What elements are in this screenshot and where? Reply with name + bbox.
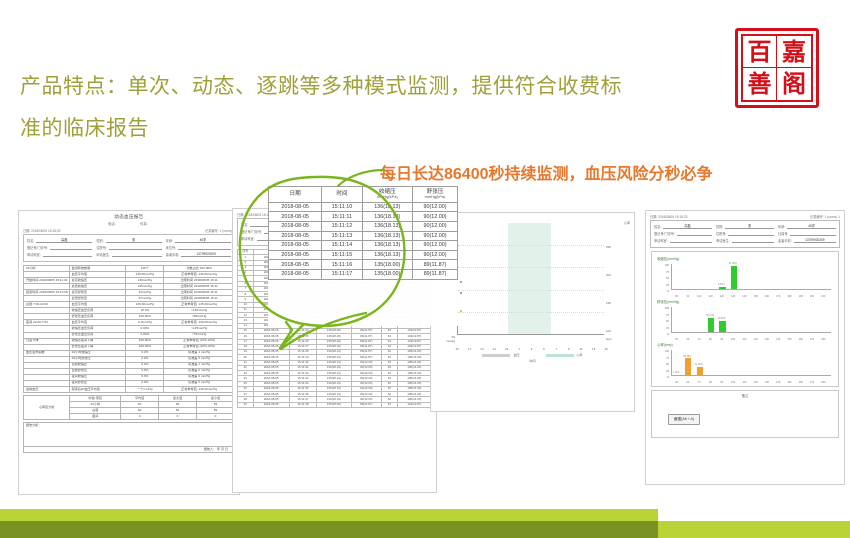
patient-field[interactable]: 住院号: (96, 245, 161, 250)
magnified-table-cell: 90(12.00) (413, 231, 458, 241)
chart-x-tick: 17 (468, 347, 471, 351)
table-cell: 29 (238, 402, 254, 407)
chart-gridline (458, 245, 604, 246)
magnified-table-cell: 136(18.13) (362, 250, 413, 260)
histogram-x-tick: 120 (754, 381, 758, 384)
histogram-y-tick: 100 (657, 350, 669, 353)
patient-field-row: 姓名:高磊性别:男年龄:46岁 (654, 223, 836, 229)
histogram-x-tick: 150 (787, 338, 791, 341)
histogram-x-tick: 190 (799, 295, 803, 298)
histogram-plot-area: 55.17%44.83% (671, 307, 831, 333)
magnified-table-row: 2018-08-0515:11:10136(18.13)90(12.00) (269, 202, 458, 212)
chart-legend-item: 心率 (546, 353, 583, 357)
table-cell: 夜间 (70, 414, 121, 420)
chart-y-right-tick: 250 (604, 245, 630, 249)
chart-gridline (458, 312, 604, 313)
magnified-table-cell: 135(18.00) (362, 269, 413, 279)
chart-x-tick: 21 (493, 347, 496, 351)
report-right-date: 日期: 2018/08/05 15:18:23 (650, 214, 687, 219)
report-left-fax-label: 传真： (140, 221, 150, 226)
histogram-y-tick: 75 (657, 314, 669, 317)
magnified-table-cell: 90(12.00) (413, 202, 458, 212)
magnified-measurement-table: 日期时间收缩压mmHg(kPa)舒张压mmHg(kPa) 2018-08-051… (268, 186, 458, 326)
patient-field[interactable]: 申请科室: (27, 252, 92, 257)
chart-x-tick: 23 (505, 347, 508, 351)
histogram-x-tick: 70 (698, 381, 701, 384)
magnified-table-cell: 2018-08-05 (269, 231, 322, 241)
patient-field-label: 年龄: (166, 238, 173, 243)
patient-field-value[interactable] (50, 245, 92, 250)
legend-swatch (482, 354, 510, 357)
histogram-y-tick: 75 (657, 357, 669, 360)
magnified-header-cell: 日期 (269, 187, 322, 203)
table-cell: 61 (382, 402, 398, 407)
magnified-table-cell: 89(11.87) (413, 260, 458, 270)
patient-field[interactable]: 患者手机:13799920209 (778, 238, 836, 243)
histogram-bar-label: 91.38% (729, 262, 737, 265)
patient-field-label: 姓名: (241, 222, 248, 227)
patient-field-value[interactable] (728, 231, 774, 236)
bp-trend-chart: 305 心率 30525020015010050mmHg 25020015010… (435, 219, 630, 351)
histogram-x-tick: 100 (731, 338, 735, 341)
table-cell: 104(13.87) (397, 402, 431, 407)
report-left-meta: 日期: 2018/08/05 15:18:23 记录编号: 1 (xxxxx) … (19, 228, 239, 233)
report-right-patient-fields: 姓名:高磊性别:男年龄:46岁登记号/门诊号:住院号:社保号:申请科室:申请医生… (650, 220, 840, 248)
histogram-x-tick: 120 (754, 338, 758, 341)
report-bp-distribution: 日期: 2018/08/05 15:18:23 记录编号: 1 (xxxxx) … (645, 210, 845, 485)
chart-x-tick: 11 (580, 347, 583, 351)
patient-field[interactable]: 姓名:高磊 (654, 223, 712, 229)
patient-field-value[interactable] (43, 252, 93, 257)
magnified-table-cell: 136(18.13) (362, 202, 413, 212)
patient-field-value[interactable] (677, 231, 712, 236)
magnified-table-row: 2018-08-0515:11:11136(18.13)90(12.00) (269, 212, 458, 222)
patient-field-label: 申请科室: (654, 238, 668, 243)
histogram-bar (697, 367, 703, 375)
magnified-table-cell: 15:11:12 (322, 222, 362, 232)
patient-field-value[interactable] (178, 245, 231, 250)
histogram-x-tick: 90 (687, 295, 690, 298)
magnified-table-cell: 2018-08-05 (269, 269, 322, 279)
seal-char-3: 善 (743, 68, 777, 100)
patient-field-label: 性别: (96, 238, 103, 243)
histogram-bar-label: 66.38% (683, 355, 691, 358)
chart-y-right-tick: 200 (604, 273, 630, 277)
histogram-y-unit: % (657, 333, 669, 336)
histogram-x-tick: 80 (709, 338, 712, 341)
patient-field-label: 患者手机: (778, 238, 792, 243)
patient-field-value[interactable]: 13799920209 (794, 238, 836, 243)
chart-x-tick: 15 (455, 347, 458, 351)
patient-field-label: 登记号/门诊号: (27, 245, 48, 250)
histogram-y-tick: 25 (657, 370, 669, 373)
histogram-title: 舒张压(mmHg) (657, 299, 836, 304)
magnified-table-cell: 2018-08-05 (269, 260, 322, 270)
footer-bar-dark (0, 521, 658, 538)
histogram-x-tick: 130 (765, 338, 769, 341)
magnified-table-cell: 90(12.00) (413, 250, 458, 260)
histogram-y-tick: 50 (657, 363, 669, 366)
footer-bar-light-top (0, 509, 658, 521)
patient-field-label: 申请医生: (96, 252, 110, 257)
report-left-record-id: 记录编号: 1 (xxxxx) 1 (205, 228, 235, 233)
magnified-table-cell: 89(11.87) (413, 269, 458, 279)
magnified-table: 日期时间收缩压mmHg(kPa)舒张压mmHg(kPa) 2018-08-051… (268, 186, 458, 280)
histogram-x-tick: 160 (765, 295, 769, 298)
table-row: 晨峰血压起床后2h血压平均值一个mmHg正常参考值: 135.00mmHg (24, 386, 235, 392)
histogram-x-tick: 90 (720, 381, 723, 384)
report-left-patient-fields: 姓名:高磊性别:男年龄:46岁登记号/门诊号:住院号:床位号:申请科室:申请医生… (23, 234, 235, 262)
magnified-table-cell: 15:11:14 (322, 241, 362, 251)
table-cell: 0 (197, 414, 235, 420)
histogram-y-tick: 100 (657, 264, 669, 267)
chart-y-right-tick: 150 (604, 301, 630, 305)
company-seal-stamp: 百 嘉 善 阁 (735, 28, 819, 108)
patient-field[interactable]: 性别:男 (716, 223, 774, 229)
legend-swatch (546, 354, 574, 357)
magnified-table-cell: 136(18.13) (362, 241, 413, 251)
chart-x-tick: 7 (555, 347, 557, 351)
histogram-x-tick: 80 (709, 381, 712, 384)
magnified-table-cell: 136(18.13) (362, 212, 413, 222)
histogram-x-tick: 60 (687, 381, 690, 384)
histogram-y-tick: 75 (657, 271, 669, 274)
chart-data-point (460, 281, 462, 283)
histogram-x-tick: 100 (731, 381, 735, 384)
histogram-title: 收缩压(mmHg) (657, 256, 836, 261)
chart-x-tick: 9 (568, 347, 570, 351)
report-bp-trend-chart: 305 心率 30525020015010050mmHg 25020015010… (430, 212, 635, 412)
histogram-x-tick: 110 (709, 295, 713, 298)
patient-field-label: 患者手机: (166, 252, 180, 257)
magnified-table-cell: 136(18.13) (362, 222, 413, 232)
table-cell: 晨峰血压 (24, 386, 70, 392)
report-right-meta: 日期: 2018/08/05 15:18:23 记录编号: 1 (xxxxx) … (646, 214, 844, 219)
histogram-x-tick: 180 (821, 381, 825, 384)
report-ambulatory-bp-summary: 动态血压报告 电话： 传真： 日期: 2018/08/05 15:18:23 记… (18, 210, 240, 495)
report-signer: 报告人： 年 月 日 (24, 447, 235, 453)
patient-field-value[interactable]: 46岁 (175, 237, 231, 243)
histogram-y-tick: 100 (657, 307, 669, 310)
histogram-x-tick: 120 (720, 295, 724, 298)
table-cell: 135(18.00) (317, 402, 351, 407)
histogram-y-tick: 25 (657, 284, 669, 287)
magnified-table-cell: 90(12.00) (413, 212, 458, 222)
magnified-table-row: 2018-08-0515:11:15136(18.13)90(12.00) (269, 250, 458, 260)
histogram-x-tick: 70 (698, 338, 701, 341)
magnified-table-row: 2018-08-0515:11:12136(18.13)90(12.00) (269, 222, 458, 232)
patient-field[interactable]: 床位号: (166, 245, 231, 250)
patient-field-value[interactable]: 高磊 (36, 237, 92, 243)
hr-section-title: 心率区分析 (24, 395, 70, 419)
seal-char-1: 百 (743, 36, 777, 68)
histogram-x-tick: 140 (776, 381, 780, 384)
histogram-x-tick: 90 (720, 338, 723, 341)
magnified-table-cell: 15:11:13 (322, 231, 362, 241)
histogram-bar (685, 358, 691, 375)
patient-field[interactable]: 登记号/门诊号: (27, 245, 92, 250)
chart-x-tick: 15 (604, 347, 607, 351)
page-title: 产品特点：单次、动态、逐跳等多种模式监测，提供符合收费标 准的临床报告 (20, 66, 730, 150)
magnified-table-row: 2018-08-0515:11:13136(18.13)90(12.00) (269, 231, 458, 241)
header-unit: mmHg(kPa) (363, 195, 413, 199)
chart-x-tick: 5 (543, 347, 545, 351)
patient-field-label: 申请医生: (716, 238, 730, 243)
chart-x-tick: 1 (518, 347, 520, 351)
patient-field-row: 申请科室:申请医生:患者手机:13799920209 (654, 238, 836, 243)
patient-field-row: 申请科室:申请医生:患者手机:13799920209 (27, 252, 231, 257)
histogram-plot-area: 1.72%66.38%31.90% (671, 350, 831, 376)
chart-gridline (458, 290, 604, 291)
magnified-table-cell: 15:11:11 (322, 212, 362, 222)
chart-y-right-title: 心率 (624, 221, 630, 225)
patient-field-row: 姓名:高磊性别:男年龄:46岁 (27, 237, 231, 243)
histogram-group: 收缩压(mmHg)100755025%8.62%91.38%8090100110… (651, 251, 839, 387)
slide-canvas: 产品特点：单次、动态、逐跳等多种模式监测，提供符合收费标 准的临床报告 百 嘉 … (0, 0, 850, 538)
magnified-table-cell: 90(12.00) (413, 241, 458, 251)
magnified-header-cell: 收缩压mmHg(kPa) (362, 187, 413, 203)
histogram-x-tick: 180 (821, 338, 825, 341)
magnified-table-cell: 2018-08-05 (269, 222, 322, 232)
histogram-x-tick: 50 (675, 338, 678, 341)
chart-plot-area (457, 223, 604, 335)
report-right-record-id: 记录编号: 1 (xxxxx) 1 (810, 214, 840, 219)
callout-highlight-text: 每日长达86400秒持续监测，血压风险分秒必争 (380, 160, 713, 184)
table-cell: 0 (159, 414, 197, 420)
chart-legend: 血压心率 (431, 353, 634, 357)
magnified-header-cell: 时间 (322, 187, 362, 203)
report-left-title: 动态血压报告 (19, 214, 239, 220)
histogram-title: 心率(bmp) (657, 342, 836, 347)
chart-night-band (508, 223, 552, 334)
chart-x-title: 时间 (431, 359, 634, 363)
patient-field-value[interactable] (732, 238, 774, 243)
magnified-table-row: 2018-08-0515:11:14136(18.13)90(12.00) (269, 241, 458, 251)
histogram-bar (719, 321, 725, 332)
histogram-bar-label: 8.62% (718, 283, 725, 286)
callout-leader-line (338, 170, 384, 186)
magnified-table-cell: 15:11:17 (322, 269, 362, 279)
histogram-x-tick: 80 (675, 295, 678, 298)
patient-field[interactable]: 性别:男 (96, 237, 161, 243)
magnified-table-cell: 2018-08-05 (269, 202, 322, 212)
patient-field-value[interactable]: 男 (725, 223, 774, 229)
patient-field[interactable]: 年龄:46岁 (166, 237, 231, 243)
histogram-y-tick: 50 (657, 320, 669, 323)
histogram: 100755025%8.62%91.38%8090100110120130140… (657, 262, 833, 298)
table-row[interactable]: 292018-08-0515:11:38135(18.00)89(11.87)6… (238, 402, 432, 407)
report-left-phone-label: 电话： (108, 221, 118, 226)
chart-x-tick: 3 (531, 347, 533, 351)
chart-data-point (460, 292, 462, 294)
patient-field-value[interactable]: 46岁 (787, 223, 836, 229)
headline-line-1: 产品特点：单次、动态、逐跳等多种模式监测，提供符合收费标 (20, 66, 730, 108)
patient-field-label: 登记号/门诊号: (241, 229, 262, 234)
patient-field-label: 社保号: (778, 231, 788, 236)
analysis-label: 报告分析： (24, 423, 235, 447)
histogram-y-tick: 50 (657, 277, 669, 280)
table-cell: 15:11:38 (289, 402, 317, 407)
patient-field[interactable]: 申请医生: (716, 238, 774, 243)
header-unit: mmHg(kPa) (413, 195, 457, 199)
patient-field-label: 床位号: (166, 245, 176, 250)
magnified-table-cell: 15:11:10 (322, 202, 362, 212)
chart-y-right-tick: 100 (604, 329, 630, 333)
patient-field[interactable]: 登记号/门诊号: (654, 231, 712, 236)
report-left-analysis-table: 报告分析： 报告人： 年 月 日 (23, 422, 235, 453)
seal-char-4: 阁 (777, 68, 811, 100)
histogram-x-tick: 170 (810, 381, 814, 384)
table-cell: 起床后2h血压平均值 (69, 386, 126, 392)
patient-field-label: 住院号: (716, 231, 726, 236)
histogram: 100755025%55.17%44.83%506070809010011012… (657, 305, 833, 341)
seal-char-2: 嘉 (777, 36, 811, 68)
histogram-x-tick: 170 (810, 338, 814, 341)
magnified-table-cell: 2018-08-05 (269, 241, 322, 251)
patient-field-label: 登记号/门诊号: (654, 231, 675, 236)
patient-field-row: 登记号/门诊号:住院号:社保号: (654, 231, 836, 236)
patient-field-label: 申请科室: (241, 236, 255, 241)
patient-field[interactable]: 社保号: (778, 231, 836, 236)
histogram-bar-label: 31.90% (695, 363, 703, 366)
histogram-x-tick: 110 (742, 338, 746, 341)
histogram-x-tick: 140 (742, 295, 746, 298)
histogram-bar (731, 266, 737, 289)
histogram-x-tick: 140 (776, 338, 780, 341)
histogram-y-unit: % (657, 290, 669, 293)
remarks-label: 备注 (652, 393, 838, 398)
histogram-x-tick: 150 (787, 381, 791, 384)
histogram-x-tick: 100 (697, 295, 701, 298)
patient-field-label: 姓名: (27, 238, 34, 243)
patient-field[interactable]: 申请医生: (96, 252, 161, 257)
patient-field-label: 性别: (716, 224, 723, 229)
histogram-bar-label: 55.17% (706, 314, 714, 317)
histogram-bar (708, 318, 714, 332)
histogram-x-tick: 200 (810, 295, 814, 298)
histogram: 100755025%1.72%66.38%31.90%5060708090100… (657, 348, 833, 384)
histogram-x-tick: 160 (799, 381, 803, 384)
patient-field-label: 申请科室: (27, 252, 41, 257)
histogram-plot-area: 8.62%91.38% (671, 264, 831, 290)
histogram-bar-label: 44.83% (717, 317, 725, 320)
report-left-hr-table: 心率区分析时段-项目平均值最大值最小值24小时606259白昼606259夜间0… (23, 395, 235, 420)
patient-field-label: 住院号: (96, 245, 106, 250)
histogram-x-tick: 50 (675, 381, 678, 384)
table-cell: 89(11.87) (351, 402, 382, 407)
patient-field[interactable]: 申请科室: (654, 238, 712, 243)
patient-field-value[interactable]: 男 (106, 237, 162, 243)
magnified-table-cell: 2018-08-05 (269, 250, 322, 260)
screenshot-button[interactable]: 截图(Alt + A) (668, 414, 700, 425)
magnified-table-row: 2018-08-0515:11:16135(18.00)89(11.87) (269, 260, 458, 270)
patient-field[interactable]: 患者手机:13799920209 (166, 252, 231, 257)
histogram-y-unit: % (657, 376, 669, 379)
histogram-x-tick: 170 (776, 295, 780, 298)
chart-x-tick: 19 (480, 347, 483, 351)
histogram-x-tick: 180 (787, 295, 791, 298)
chart-y-right-unit: bpm (604, 337, 630, 341)
patient-field-label: 年龄: (778, 224, 785, 229)
histogram-x-tick: 130 (731, 295, 735, 298)
table-cell: 0 (121, 414, 159, 420)
patient-field-row: 登记号/门诊号:住院号:床位号: (27, 245, 231, 250)
footer-bar-light-right (658, 521, 850, 538)
magnified-table-cell: 135(18.00) (362, 260, 413, 270)
magnified-table-cell: 136(18.13) (362, 231, 413, 241)
histogram-bar (719, 287, 725, 289)
histogram-x-tick: 210 (821, 295, 825, 298)
histogram-x-tick: 130 (765, 381, 769, 384)
histogram-x-tick: 60 (687, 338, 690, 341)
magnified-table-cell: 90(12.00) (413, 222, 458, 232)
chart-gridline (458, 267, 604, 268)
magnified-header-cell: 舒张压mmHg(kPa) (413, 187, 458, 203)
patient-field-value[interactable]: 高磊 (663, 223, 712, 229)
seal-inner-frame: 百 嘉 善 阁 (741, 34, 813, 102)
patient-field[interactable]: 住院号: (716, 231, 774, 236)
magnified-table-row: 2018-08-0515:11:17135(18.00)89(11.87) (269, 269, 458, 279)
histogram-bar-label: 1.72% (673, 371, 680, 374)
patient-field[interactable]: 姓名:高磊 (27, 237, 92, 243)
table-cell: 2018-08-05 (253, 402, 289, 407)
histogram-x-tick: 160 (799, 338, 803, 341)
chart-y-left-unit: mmHg (435, 339, 455, 343)
chart-x-tick: 13 (592, 347, 595, 351)
report-left-contact: 电话： 传真： (19, 221, 239, 226)
patient-field-label: 姓名: (654, 224, 661, 229)
histogram-y-tick: 25 (657, 327, 669, 330)
report-left-date: 日期: 2018/08/05 15:18:23 (23, 228, 60, 233)
histogram-x-tick: 110 (742, 381, 746, 384)
patient-field[interactable]: 年龄:46岁 (778, 223, 836, 229)
magnified-table-cell: 15:11:16 (322, 260, 362, 270)
report-left-stats-table: 24小时监测有效数量116个次数占比 100.00%血压平均值136.00mmH… (23, 265, 235, 393)
patient-field-value[interactable] (112, 252, 162, 257)
table-cell: 一个mmHg (126, 386, 164, 392)
patient-field-value[interactable]: 13799920209 (181, 252, 231, 257)
histogram-x-tick: 150 (754, 295, 758, 298)
magnified-table-cell: 15:11:15 (322, 250, 362, 260)
chart-legend-item: 血压 (482, 353, 519, 357)
table-cell: 正常参考值: 135.00mmHg (164, 386, 235, 392)
chart-data-point (460, 310, 462, 312)
patient-field-value[interactable] (109, 245, 162, 250)
patient-field-value[interactable] (670, 238, 712, 243)
headline-line-2: 准的临床报告 (20, 108, 730, 150)
magnified-table-cell: 2018-08-05 (269, 212, 322, 222)
patient-field-value[interactable] (790, 231, 836, 236)
